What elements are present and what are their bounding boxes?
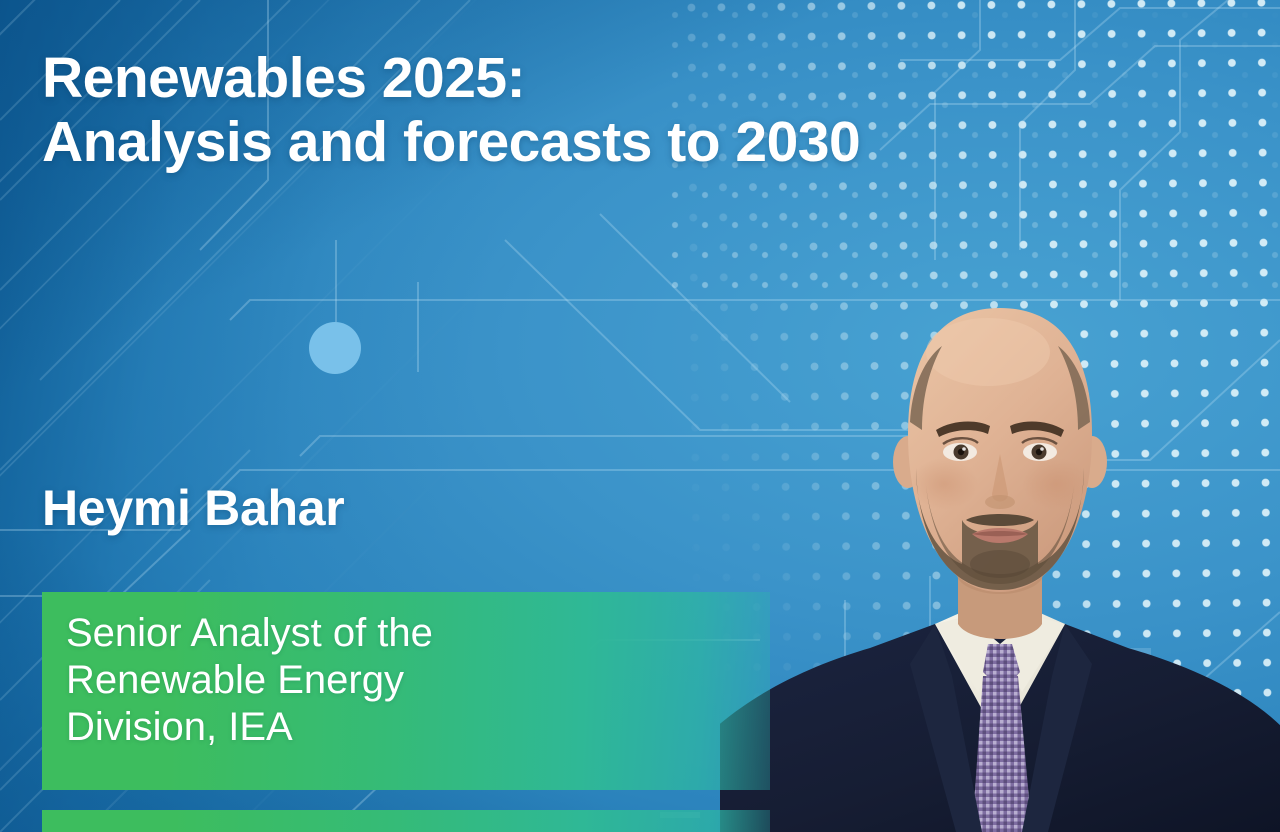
presentation-title-slide: Renewables 2025: Analysis and forecasts … [0,0,1280,832]
speaker-photo [720,272,1280,832]
speaker-role-band: Senior Analyst of the Renewable Energy D… [42,592,770,790]
secondary-accent-band [42,810,770,832]
speaker-role-text: Senior Analyst of the Renewable Energy D… [66,610,760,752]
page-title: Renewables 2025: Analysis and forecasts … [42,47,1222,175]
circuit-node-dot [309,322,361,374]
speaker-name: Heymi Bahar [42,482,344,535]
